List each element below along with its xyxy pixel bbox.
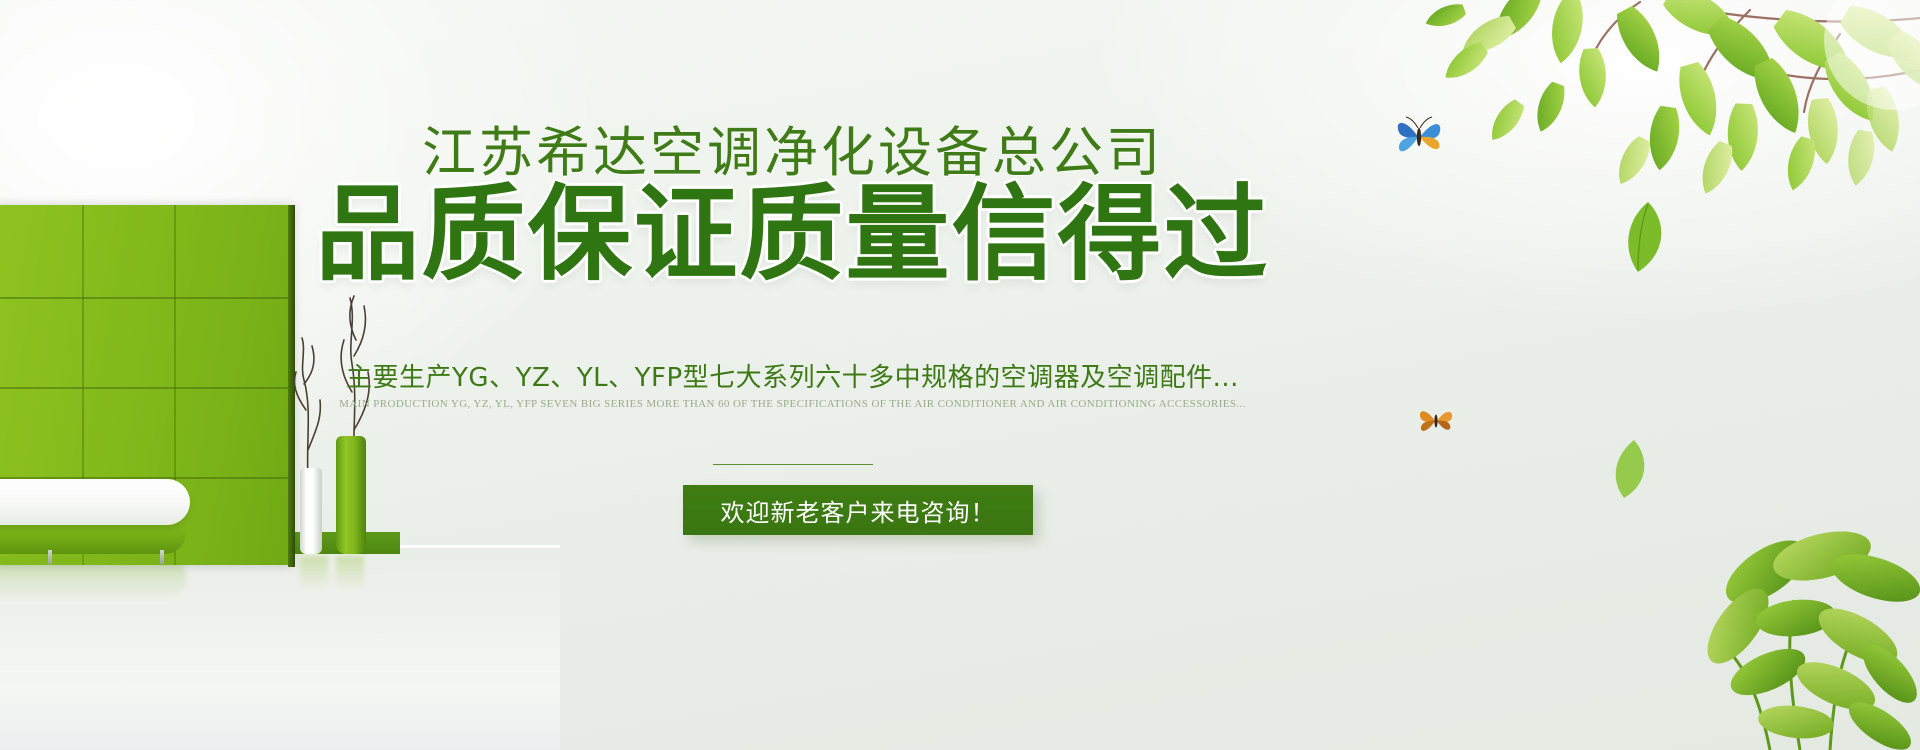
banner-content: 江苏希达空调净化设备总公司 品质保证质量信得过 主要生产YG、YZ、YL、YFP… [0, 0, 1920, 750]
divider [0, 452, 1585, 470]
hero-banner: 江苏希达空调净化设备总公司 品质保证质量信得过 主要生产YG、YZ、YL、YFP… [0, 0, 1920, 750]
contact-cta-button[interactable]: 欢迎新老客户来电咨询！ [683, 485, 1033, 535]
description-english: MAIN PRODUCTION YG, YZ, YL, YFP SEVEN BI… [0, 398, 1585, 410]
slogan-headline: 品质保证质量信得过 [0, 178, 1585, 290]
description-chinese: 主要生产YG、YZ、YL、YFP型七大系列六十多中规格的空调器及空调配件... [0, 357, 1585, 394]
